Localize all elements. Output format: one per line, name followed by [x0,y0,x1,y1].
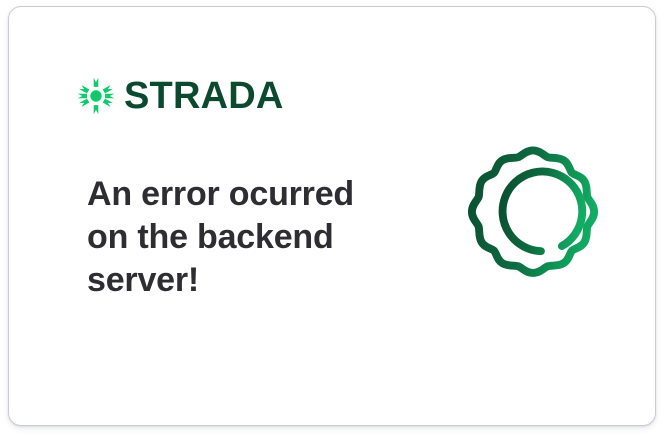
gear-inner-arc [503,171,583,251]
error-card: STRADA An error ocurred on the backend s… [8,6,656,426]
brand-lockup: STRADA [77,71,284,121]
error-message-text: An error ocurred on the backend server! [87,173,377,302]
brand-wordmark: STRADA [124,77,284,115]
gear-cog-icon [450,143,616,309]
strada-asterisk-mark-icon [77,77,115,115]
